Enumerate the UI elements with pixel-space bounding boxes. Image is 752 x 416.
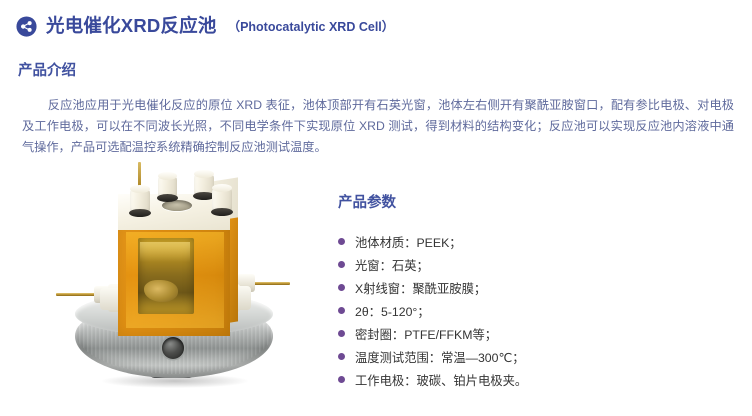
list-item: 2θ：5-120°； <box>338 299 527 322</box>
port-cap <box>158 172 177 180</box>
list-item: 光窗：石英； <box>338 253 527 276</box>
list-item: 池体材质：PEEK； <box>338 230 527 253</box>
list-item: 工作电极：玻碳、铂片电极夹。 <box>338 368 527 391</box>
base-side-port <box>162 337 184 359</box>
page-header: 光电催化XRD反应池 （Photocatalytic XRD Cell） <box>16 16 394 37</box>
port-post-front-right <box>212 188 232 212</box>
bullet-dot-icon <box>338 330 345 337</box>
parameter-text: 密封圈：PTFE/FFKM等； <box>355 325 497 343</box>
parameter-list: 池体材质：PEEK； 光窗：石英； X射线窗：聚酰亚胺膜； 2θ：5-120°；… <box>338 230 527 391</box>
bullet-dot-icon <box>338 238 345 245</box>
bullet-dot-icon <box>338 307 345 314</box>
list-item: X射线窗：聚酰亚胺膜； <box>338 276 527 299</box>
parameter-text: 工作电极：玻碳、铂片电极夹。 <box>355 371 527 389</box>
page-title: 光电催化XRD反应池 <box>46 17 217 36</box>
bullet-dot-icon <box>338 284 345 291</box>
port-post-back-right <box>194 174 214 196</box>
port-cap <box>194 170 214 178</box>
bullet-dot-icon <box>338 376 345 383</box>
introduction-paragraph: 反应池应用于光电催化反应的原位 XRD 表征，池体顶部开有石英光窗，池体左右侧开… <box>22 95 734 158</box>
port-oring <box>211 208 233 216</box>
port-cap <box>212 184 232 192</box>
list-item: 密封圈：PTFE/FFKM等； <box>338 322 527 345</box>
section-heading-parameters: 产品参数 <box>338 196 396 211</box>
introduction-text: 反应池应用于光电催化反应的原位 XRD 表征，池体顶部开有石英光窗，池体左右侧开… <box>22 98 734 154</box>
parameter-text: 温度测试范围：常温—300℃； <box>355 348 525 366</box>
port-cap <box>130 185 150 193</box>
section-heading-introduction: 产品介绍 <box>18 64 76 79</box>
port-post-front-left <box>130 189 150 213</box>
parameter-text: 池体材质：PEEK； <box>355 233 462 251</box>
port-post-back-left <box>158 176 177 198</box>
photocatalytic-xrd-cell-photo <box>34 162 314 410</box>
port-oring <box>157 194 178 202</box>
share-nodes-icon <box>16 16 37 37</box>
page-title-english: （Photocatalytic XRD Cell） <box>228 21 395 34</box>
parameter-text: 光窗：石英； <box>355 256 429 274</box>
port-oring <box>129 209 151 217</box>
parameter-text: X射线窗：聚酰亚胺膜； <box>355 279 486 297</box>
sample-inside-cell <box>144 280 178 302</box>
parameter-text: 2θ：5-120°； <box>355 302 430 320</box>
bullet-dot-icon <box>338 353 345 360</box>
list-item: 温度测试范围：常温—300℃； <box>338 345 527 368</box>
bullet-dot-icon <box>338 261 345 268</box>
window-highlight <box>140 242 190 262</box>
